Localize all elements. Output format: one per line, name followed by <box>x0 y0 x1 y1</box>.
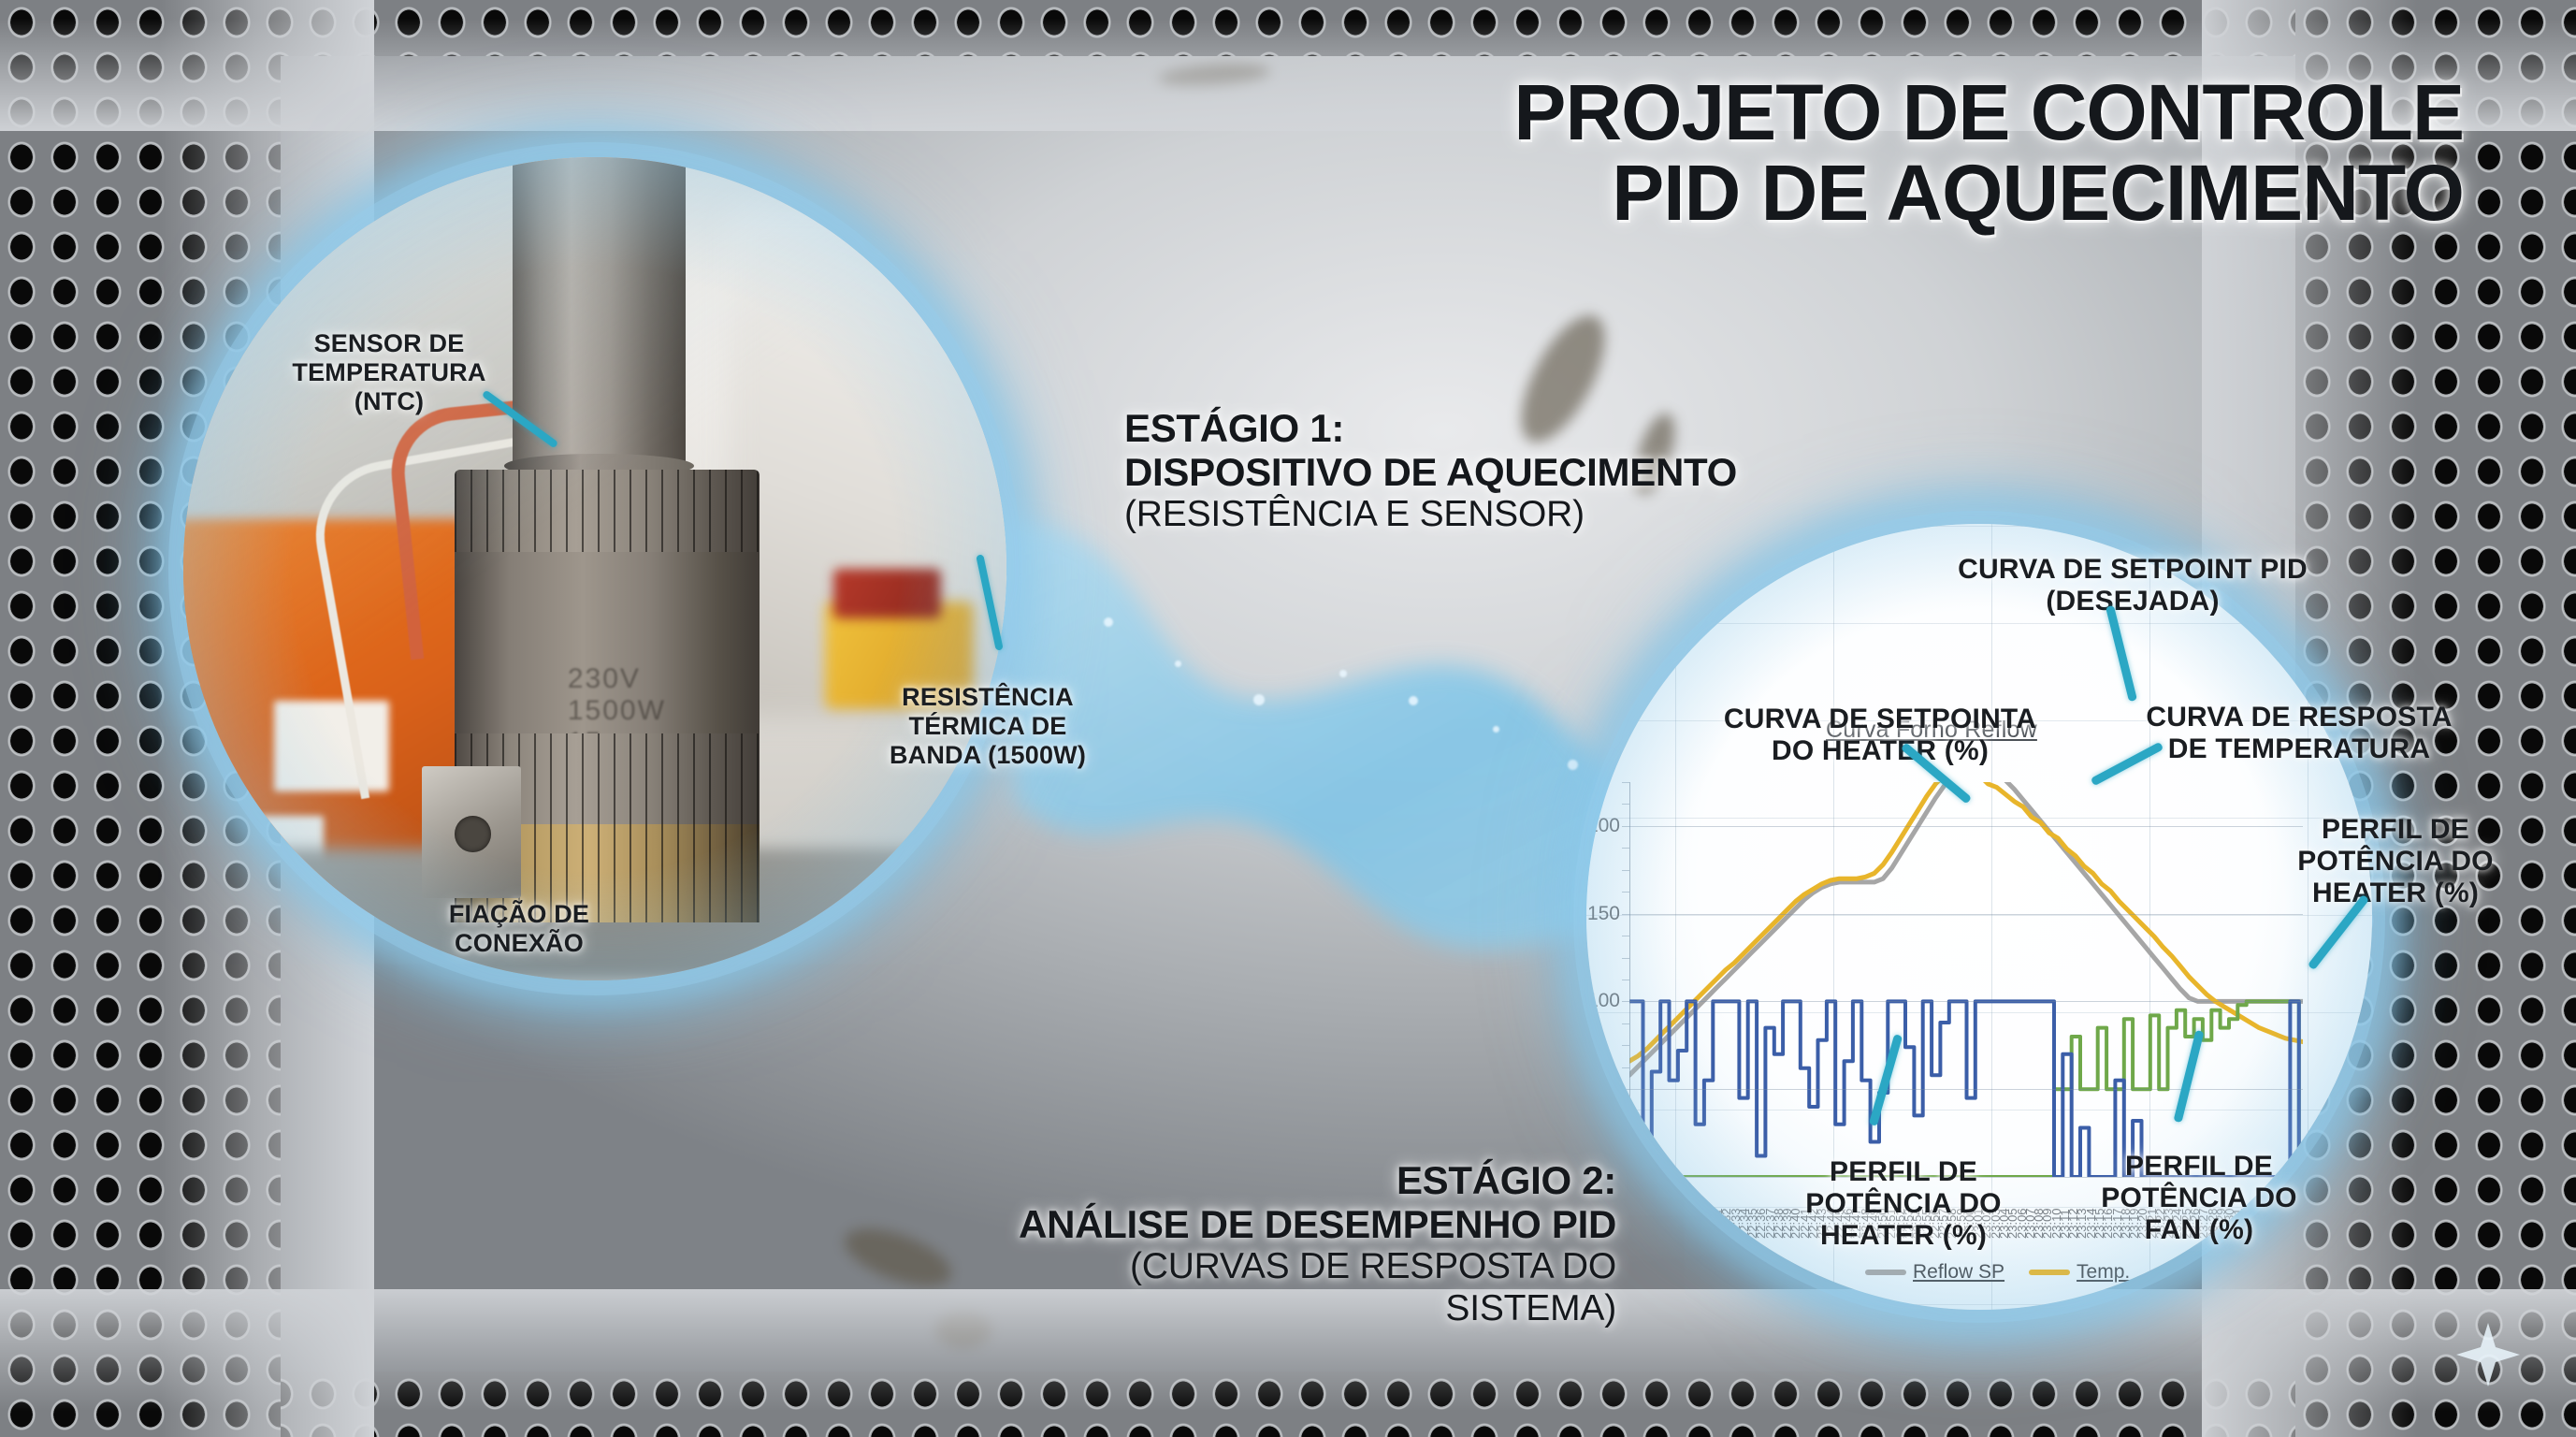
y-axis-minor-tick <box>1622 980 1629 980</box>
y-axis-minor-tick <box>1622 848 1629 849</box>
callout-resist-line1: RESISTÊNCIA <box>885 683 1091 712</box>
page-title-line2: PID DE AQUECIMENTO <box>1513 153 2464 234</box>
sparkle-dot <box>1253 694 1265 705</box>
y-axis-minor-tick <box>1622 1001 1629 1002</box>
y-axis-minor-tick <box>1622 1045 1629 1046</box>
callout-bottom-heater-line2: POTÊNCIA DO <box>1749 1188 2058 1220</box>
y-axis-minor-tick <box>1622 782 1629 783</box>
legend-label: fan <box>2312 1261 2339 1284</box>
y-axis <box>1629 782 1630 1177</box>
callout-perfil-heater-line3: HEATER (%) <box>2241 878 2550 909</box>
callout-resist-line2: TÉRMICA DE <box>885 712 1091 741</box>
y-axis-minor-tick <box>1622 826 1629 827</box>
y-axis-minor-tick <box>1622 1155 1629 1156</box>
callout-setpoint-pid: CURVA DE SETPOINT PID (DESEJADA) <box>1871 554 2395 617</box>
y-axis-minor-tick <box>1622 1133 1629 1134</box>
callout-setpoint-heater-line1: CURVA DE SETPOINTA <box>1684 704 2077 735</box>
y-axis-minor-tick <box>1622 804 1629 805</box>
callout-resist-line3: BANDA (1500W) <box>885 741 1091 770</box>
callout-setpoint-pid-line1: CURVA DE SETPOINT PID <box>1871 554 2395 586</box>
stage-2-lead2: ANÁLISE DE DESEMPENHO PID <box>977 1202 1616 1246</box>
stage-2-sub: (CURVAS DE RESPOSTA DO SISTEMA) <box>977 1246 1616 1329</box>
legend-label: Temp. <box>2077 1261 2130 1284</box>
callout-perfil-heater-right: PERFIL DE POTÊNCIA DO HEATER (%) <box>2241 814 2550 910</box>
y-axis-tick: 200 <box>1587 815 1620 837</box>
gridline <box>1629 1089 2303 1090</box>
y-axis-minor-tick <box>1622 870 1629 871</box>
y-axis-minor-tick <box>1622 1177 1629 1178</box>
bubble-blue-tint <box>183 157 1006 980</box>
callout-bottom-fan-line1: PERFIL DE <box>2045 1151 2353 1183</box>
sparkle-dot <box>1568 760 1578 770</box>
y-axis-minor-tick <box>1622 1023 1629 1024</box>
chart-legend: Reflow SPTemp.heatfan <box>1865 1261 2339 1284</box>
chart-curves <box>1629 782 2303 1177</box>
sparkle-icon <box>2454 1321 2522 1388</box>
legend-item-temp[interactable]: Temp. <box>2029 1261 2130 1284</box>
callout-response-line1: CURVA DE RESPOSTA <box>2112 702 2486 733</box>
legend-swatch <box>2029 1270 2070 1275</box>
y-axis-minor-tick <box>1622 1111 1629 1112</box>
y-axis-tick: 100 <box>1587 990 1620 1012</box>
sparkle-dot <box>1493 726 1499 733</box>
callout-perfil-fan-bottom: PERFIL DE POTÊNCIA DO FAN (%) <box>2045 1151 2353 1247</box>
sparkle-dot <box>1339 670 1347 677</box>
stage-1-lead: ESTÁGIO 1: <box>1124 406 1737 450</box>
callout-setpoint-heater-line2: DO HEATER (%) <box>1684 735 2077 767</box>
sparkle-dot <box>1409 696 1418 705</box>
gridline <box>1629 1001 2303 1002</box>
stage-1-block: ESTÁGIO 1: DISPOSITIVO DE AQUECIMENTO (R… <box>1124 406 1737 536</box>
y-axis-minor-tick <box>1622 892 1629 893</box>
stage-1-sub: (RESISTÊNCIA E SENSOR) <box>1124 494 1737 535</box>
callout-setpoint-heater: CURVA DE SETPOINTA DO HEATER (%) <box>1684 704 2077 767</box>
legend-swatch <box>2154 1270 2195 1275</box>
callout-perfil-heater-line2: POTÊNCIA DO <box>2241 846 2550 878</box>
callout-sensor-line1: SENSOR DE <box>268 329 511 358</box>
callout-perfil-heater-line1: PERFIL DE <box>2241 814 2550 846</box>
callout-sensor-line3: (NTC) <box>268 387 511 416</box>
chart-plot-area: 050100150200 Área de Plotagem <box>1629 782 2303 1177</box>
legend-swatch <box>1865 1270 1906 1275</box>
sparkle-dot <box>1104 617 1113 627</box>
callout-wiring-line1: FIAÇÃO DE <box>412 900 627 929</box>
y-axis-tick: 50 <box>1599 1078 1620 1100</box>
legend-label: heat <box>2202 1261 2240 1284</box>
callout-bottom-fan-line2: POTÊNCIA DO <box>2045 1183 2353 1214</box>
callout-perfil-heater-bottom: PERFIL DE POTÊNCIA DO HEATER (%) <box>1749 1156 2058 1253</box>
callout-temperature-sensor: SENSOR DE TEMPERATURA (NTC) <box>268 329 511 415</box>
page-title: PROJETO DE CONTROLE PID DE AQUECIMENTO <box>1513 73 2464 233</box>
callout-bottom-heater-line1: PERFIL DE <box>1749 1156 2058 1188</box>
y-axis-tick: 150 <box>1587 903 1620 925</box>
callout-wiring: FIAÇÃO DE CONEXÃO <box>412 900 627 958</box>
callout-response-temperature: CURVA DE RESPOSTA DE TEMPERATURA <box>2112 702 2486 765</box>
heater-photo-bubble: 230V 1500W 15 <box>183 157 1006 980</box>
sparkle-dot <box>1175 660 1181 667</box>
callout-bottom-fan-line3: FAN (%) <box>2045 1214 2353 1246</box>
gridline <box>1629 914 2303 915</box>
infographic-canvas: 230V 1500W 15 SENSOR DE TEMPERATURA (NTC… <box>0 0 2576 1437</box>
legend-item-heat[interactable]: heat <box>2154 1261 2240 1284</box>
legend-label: Reflow SP <box>1913 1261 2004 1284</box>
callout-sensor-line2: TEMPERATURA <box>268 358 511 387</box>
legend-item-reflowsp[interactable]: Reflow SP <box>1865 1261 2004 1284</box>
y-axis-minor-tick <box>1622 914 1629 915</box>
gridline <box>1629 826 2303 827</box>
y-axis-minor-tick <box>1622 1089 1629 1090</box>
y-axis-minor-tick <box>1622 936 1629 936</box>
callout-bottom-heater-line3: HEATER (%) <box>1749 1220 2058 1252</box>
legend-swatch <box>2265 1270 2306 1275</box>
stage-2-block: ESTÁGIO 2: ANÁLISE DE DESEMPENHO PID (CU… <box>977 1158 1616 1329</box>
callout-band-heater: RESISTÊNCIA TÉRMICA DE BANDA (1500W) <box>885 683 1091 769</box>
stage-2-lead: ESTÁGIO 2: <box>977 1158 1616 1202</box>
page-title-line1: PROJETO DE CONTROLE <box>1513 73 2464 153</box>
stage-1-lead2: DISPOSITIVO DE AQUECIMENTO <box>1124 450 1737 494</box>
legend-item-fan[interactable]: fan <box>2265 1261 2339 1284</box>
callout-setpoint-pid-line2: (DESEJADA) <box>1871 586 2395 617</box>
callout-response-line2: DE TEMPERATURA <box>2112 733 2486 765</box>
y-axis-minor-tick <box>1622 958 1629 959</box>
callout-wiring-line2: CONEXÃO <box>412 929 627 958</box>
y-axis-minor-tick <box>1622 1067 1629 1068</box>
